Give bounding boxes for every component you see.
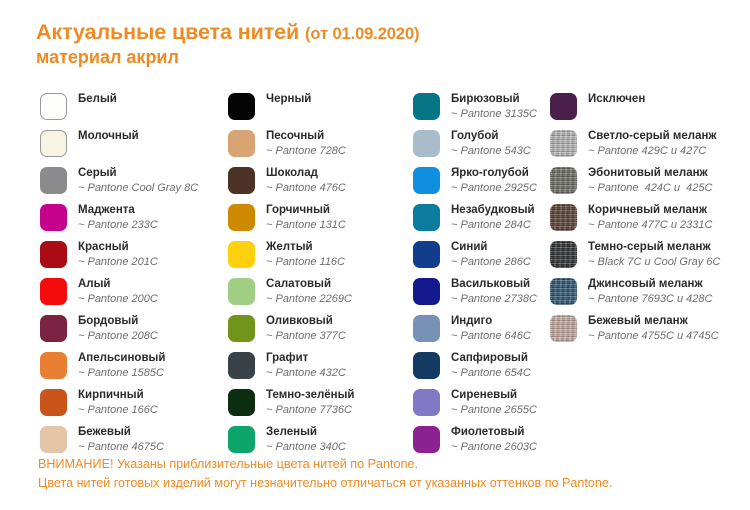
color-name-label: Джинсовый меланж xyxy=(588,277,712,291)
page-title-main: Актуальные цвета нитей xyxy=(36,20,299,44)
color-name-label: Алый xyxy=(78,277,158,291)
color-swatch-text: Бордовый~ Pantone 208C xyxy=(78,314,158,343)
color-swatch-row[interactable]: Апельсиновый~ Pantone 1585C xyxy=(40,351,226,388)
color-swatch-row[interactable]: Красный~ Pantone 201C xyxy=(40,240,226,277)
page-title-date: (от 01.09.2020) xyxy=(305,25,419,43)
color-name-label: Фиолетовый xyxy=(451,425,537,439)
color-swatch-row[interactable]: Коричневый меланж~ Pantone 477C и 2331C xyxy=(550,203,750,240)
pantone-code-label: ~ Pantone 233C xyxy=(78,218,158,232)
color-name-label: Бирюзовый xyxy=(451,92,537,106)
pantone-code-label: ~ Pantone 286C xyxy=(451,255,531,269)
palette-column-4: ИсключенСветло-серый меланж~ Pantone 429… xyxy=(550,92,750,351)
color-swatch[interactable] xyxy=(413,426,440,453)
page-subtitle: материал акрил xyxy=(36,46,726,69)
color-swatch-row[interactable]: Незабудковый~ Pantone 284C xyxy=(413,203,553,240)
color-swatch[interactable] xyxy=(40,315,67,342)
color-swatch-row[interactable]: Горчичный~ Pantone 131C xyxy=(228,203,412,240)
color-swatch-text: Белый xyxy=(78,92,117,106)
color-palette-grid: БелыйМолочныйСерый~ Pantone Cool Gray 8C… xyxy=(0,92,750,437)
color-swatch-text: Шоколад~ Pantone 476C xyxy=(266,166,346,195)
pantone-code-label: ~ Pantone 429C и 427C xyxy=(588,144,717,158)
melange-color-swatch[interactable] xyxy=(550,130,577,157)
pantone-code-label: ~ Pantone 377C xyxy=(266,329,346,343)
color-name-label: Темно-зелёный xyxy=(266,388,355,402)
color-swatch-row[interactable]: Бежевый меланж~ Pantone 4755C и 4745C xyxy=(550,314,750,351)
color-swatch-row[interactable]: Алый~ Pantone 200C xyxy=(40,277,226,314)
color-name-label: Бежевый меланж xyxy=(588,314,719,328)
color-name-label: Коричневый меланж xyxy=(588,203,712,217)
color-swatch-text: Фиолетовый~ Pantone 2603C xyxy=(451,425,537,454)
color-swatch[interactable] xyxy=(413,167,440,194)
color-swatch-row[interactable]: Бирюзовый~ Pantone 3135C xyxy=(413,92,553,129)
color-swatch-text: Светло-серый меланж~ Pantone 429C и 427C xyxy=(588,129,717,158)
color-swatch-row[interactable]: Серый~ Pantone Cool Gray 8C xyxy=(40,166,226,203)
color-swatch-row[interactable]: Ярко-голубой~ Pantone 2925C xyxy=(413,166,553,203)
pantone-code-label: ~ Pantone 4675C xyxy=(78,440,164,454)
melange-color-swatch[interactable] xyxy=(550,167,577,194)
color-swatch[interactable] xyxy=(550,93,577,120)
pantone-code-label: ~ Pantone 728C xyxy=(266,144,346,158)
color-swatch-text: Зеленый~ Pantone 340C xyxy=(266,425,346,454)
color-swatch[interactable] xyxy=(413,278,440,305)
color-swatch[interactable] xyxy=(228,389,255,416)
color-swatch-text: Черный xyxy=(266,92,311,106)
pantone-code-label: ~ Pantone 476C xyxy=(266,181,346,195)
color-name-label: Исключен xyxy=(588,92,645,106)
pantone-code-label: ~ Pantone Cool Gray 8C xyxy=(78,181,198,195)
pantone-code-label: ~ Pantone 4755C и 4745C xyxy=(588,329,719,343)
color-swatch[interactable] xyxy=(40,167,67,194)
color-name-label: Эбонитовый меланж xyxy=(588,166,712,180)
color-swatch-text: Песочный~ Pantone 728C xyxy=(266,129,346,158)
pantone-code-label: ~ Pantone 131C xyxy=(266,218,346,232)
pantone-code-label: ~ Pantone 1585C xyxy=(78,366,165,380)
color-swatch-text: Коричневый меланж~ Pantone 477C и 2331C xyxy=(588,203,712,232)
color-name-label: Красный xyxy=(78,240,158,254)
color-swatch-row[interactable]: Темно-зелёный~ Pantone 7736C xyxy=(228,388,412,425)
color-swatch-text: Голубой~ Pantone 543C xyxy=(451,129,531,158)
pantone-code-label: ~ Black 7C и Cool Gray 6C xyxy=(588,255,720,269)
color-swatch-row[interactable]: Шоколад~ Pantone 476C xyxy=(228,166,412,203)
color-swatch-row[interactable]: Эбонитовый меланж~ Pantone 424C и 425C xyxy=(550,166,750,203)
color-swatch-text: Алый~ Pantone 200C xyxy=(78,277,158,306)
color-name-label: Голубой xyxy=(451,129,531,143)
color-swatch-text: Желтый~ Pantone 116C xyxy=(266,240,345,269)
color-swatch-row[interactable]: Кирпичный~ Pantone 166C xyxy=(40,388,226,425)
melange-color-swatch[interactable] xyxy=(550,204,577,231)
color-name-label: Маджента xyxy=(78,203,158,217)
color-swatch-row[interactable]: Салатовый~ Pantone 2269C xyxy=(228,277,412,314)
color-swatch[interactable] xyxy=(413,241,440,268)
color-swatch-text: Горчичный~ Pantone 131C xyxy=(266,203,346,232)
color-swatch[interactable] xyxy=(40,241,67,268)
pantone-code-label: ~ Pantone 432C xyxy=(266,366,346,380)
color-name-label: Салатовый xyxy=(266,277,352,291)
color-swatch-text: Бежевый меланж~ Pantone 4755C и 4745C xyxy=(588,314,719,343)
color-swatch[interactable] xyxy=(413,204,440,231)
color-swatch-row[interactable]: Молочный xyxy=(40,129,226,166)
pantone-code-label: ~ Pantone 201C xyxy=(78,255,158,269)
color-swatch[interactable] xyxy=(40,278,67,305)
color-swatch-text: Маджента~ Pantone 233C xyxy=(78,203,158,232)
color-name-label: Песочный xyxy=(266,129,346,143)
pantone-code-label: ~ Pantone 646C xyxy=(451,329,531,343)
color-name-label: Сиреневый xyxy=(451,388,537,402)
color-swatch-row[interactable]: Джинсовый меланж~ Pantone 7693C и 428C xyxy=(550,277,750,314)
color-name-label: Бордовый xyxy=(78,314,158,328)
color-name-label: Горчичный xyxy=(266,203,346,217)
melange-color-swatch[interactable] xyxy=(550,315,577,342)
color-swatch[interactable] xyxy=(40,426,67,453)
pantone-code-label: ~ Pantone 2603C xyxy=(451,440,537,454)
color-swatch-row[interactable]: Желтый~ Pantone 116C xyxy=(228,240,412,277)
melange-color-swatch[interactable] xyxy=(550,241,577,268)
color-swatch-text: Сиреневый~ Pantone 2655C xyxy=(451,388,537,417)
color-swatch-row[interactable]: Синий~ Pantone 286C xyxy=(413,240,553,277)
color-name-label: Индиго xyxy=(451,314,531,328)
color-swatch-row[interactable]: Голубой~ Pantone 543C xyxy=(413,129,553,166)
pantone-code-label: ~ Pantone 208C xyxy=(78,329,158,343)
color-name-label: Шоколад xyxy=(266,166,346,180)
color-swatch-row[interactable]: Светло-серый меланж~ Pantone 429C и 427C xyxy=(550,129,750,166)
color-swatch-row[interactable]: Черный xyxy=(228,92,412,129)
melange-color-swatch[interactable] xyxy=(550,278,577,305)
pantone-code-label: ~ Pantone 2655C xyxy=(451,403,537,417)
pantone-code-label: ~ Pantone 7736C xyxy=(266,403,355,417)
color-name-label: Белый xyxy=(78,92,117,106)
color-swatch[interactable] xyxy=(228,426,255,453)
pantone-code-label: ~ Pantone 166C xyxy=(78,403,158,417)
color-swatch-text: Бирюзовый~ Pantone 3135C xyxy=(451,92,537,121)
color-swatch[interactable] xyxy=(413,130,440,157)
color-swatch[interactable] xyxy=(413,352,440,379)
color-swatch-text: Незабудковый~ Pantone 284C xyxy=(451,203,535,232)
color-swatch-row[interactable]: Песочный~ Pantone 728C xyxy=(228,129,412,166)
palette-column-2: ЧерныйПесочный~ Pantone 728CШоколад~ Pan… xyxy=(228,92,412,462)
color-name-label: Бежевый xyxy=(78,425,164,439)
color-name-label: Темно-серый меланж xyxy=(588,240,720,254)
color-swatch[interactable] xyxy=(228,241,255,268)
color-swatch-text: Сапфировый~ Pantone 654C xyxy=(451,351,531,380)
color-swatch[interactable] xyxy=(40,352,67,379)
color-name-label: Молочный xyxy=(78,129,139,143)
color-swatch[interactable] xyxy=(413,315,440,342)
color-name-label: Желтый xyxy=(266,240,345,254)
color-swatch[interactable] xyxy=(228,130,255,157)
pantone-code-label: ~ Pantone 284C xyxy=(451,218,535,232)
color-swatch[interactable] xyxy=(228,278,255,305)
color-name-label: Апельсиновый xyxy=(78,351,165,365)
color-swatch-text: Исключен xyxy=(588,92,645,106)
color-swatch-row[interactable]: Сапфировый~ Pantone 654C xyxy=(413,351,553,388)
color-swatch[interactable] xyxy=(413,389,440,416)
warning-line-2: Цвета нитей готовых изделий могут незнач… xyxy=(38,474,738,493)
pantone-code-label: ~ Pantone 477C и 2331C xyxy=(588,218,712,232)
color-swatch[interactable] xyxy=(228,167,255,194)
color-name-label: Светло-серый меланж xyxy=(588,129,717,143)
color-swatch-text: Индиго~ Pantone 646C xyxy=(451,314,531,343)
pantone-code-label: ~ Pantone 340C xyxy=(266,440,346,454)
color-swatch-text: Ярко-голубой~ Pantone 2925C xyxy=(451,166,537,195)
pantone-code-label: ~ Pantone 424C и 425C xyxy=(588,181,712,195)
color-name-label: Графит xyxy=(266,351,346,365)
color-swatch[interactable] xyxy=(40,204,67,231)
color-swatch-row[interactable]: Темно-серый меланж~ Black 7C и Cool Gray… xyxy=(550,240,750,277)
warning-line-1: ВНИМАНИЕ! Указаны приблизительные цвета … xyxy=(38,455,738,474)
warning-note: ВНИМАНИЕ! Указаны приблизительные цвета … xyxy=(38,455,738,493)
color-swatch[interactable] xyxy=(413,93,440,120)
color-swatch-text: Молочный xyxy=(78,129,139,143)
pantone-code-label: ~ Pantone 654C xyxy=(451,366,531,380)
color-swatch-text: Джинсовый меланж~ Pantone 7693C и 428C xyxy=(588,277,712,306)
color-swatch-text: Графит~ Pantone 432C xyxy=(266,351,346,380)
color-name-label: Оливковый xyxy=(266,314,346,328)
color-swatch-row[interactable]: Исключен xyxy=(550,92,750,129)
pantone-code-label: ~ Pantone 2925C xyxy=(451,181,537,195)
color-swatch-row[interactable]: Сиреневый~ Pantone 2655C xyxy=(413,388,553,425)
color-name-label: Кирпичный xyxy=(78,388,158,402)
pantone-code-label: ~ Pantone 7693C и 428C xyxy=(588,292,712,306)
color-swatch-text: Темно-зелёный~ Pantone 7736C xyxy=(266,388,355,417)
pantone-code-label: ~ Pantone 2738C xyxy=(451,292,537,306)
color-name-label: Черный xyxy=(266,92,311,106)
color-swatch[interactable] xyxy=(228,93,255,120)
color-swatch-text: Бежевый~ Pantone 4675C xyxy=(78,425,164,454)
color-swatch-text: Красный~ Pantone 201C xyxy=(78,240,158,269)
pantone-code-label: ~ Pantone 200C xyxy=(78,292,158,306)
color-swatch-text: Синий~ Pantone 286C xyxy=(451,240,531,269)
color-swatch-text: Темно-серый меланж~ Black 7C и Cool Gray… xyxy=(588,240,720,269)
color-name-label: Незабудковый xyxy=(451,203,535,217)
color-name-label: Зеленый xyxy=(266,425,346,439)
color-swatch-row[interactable]: Маджента~ Pantone 233C xyxy=(40,203,226,240)
color-swatch[interactable] xyxy=(40,389,67,416)
color-name-label: Васильковый xyxy=(451,277,537,291)
palette-column-1: БелыйМолочныйСерый~ Pantone Cool Gray 8C… xyxy=(40,92,226,462)
page-title: Актуальные цвета нитей (от 01.09.2020) xyxy=(36,20,726,45)
color-name-label: Ярко-голубой xyxy=(451,166,537,180)
pantone-code-label: ~ Pantone 543C xyxy=(451,144,531,158)
color-swatch-text: Серый~ Pantone Cool Gray 8C xyxy=(78,166,198,195)
color-swatch-row[interactable]: Графит~ Pantone 432C xyxy=(228,351,412,388)
color-swatch-row[interactable]: Бордовый~ Pantone 208C xyxy=(40,314,226,351)
color-swatch-text: Кирпичный~ Pantone 166C xyxy=(78,388,158,417)
color-swatch[interactable] xyxy=(228,204,255,231)
pantone-code-label: ~ Pantone 2269C xyxy=(266,292,352,306)
color-swatch-text: Эбонитовый меланж~ Pantone 424C и 425C xyxy=(588,166,712,195)
color-swatch[interactable] xyxy=(40,93,67,120)
color-swatch-row[interactable]: Белый xyxy=(40,92,226,129)
color-name-label: Синий xyxy=(451,240,531,254)
color-swatch-row[interactable]: Индиго~ Pantone 646C xyxy=(413,314,553,351)
pantone-code-label: ~ Pantone 3135C xyxy=(451,107,537,121)
color-swatch-text: Апельсиновый~ Pantone 1585C xyxy=(78,351,165,380)
color-swatch-text: Салатовый~ Pantone 2269C xyxy=(266,277,352,306)
color-swatch[interactable] xyxy=(40,130,67,157)
palette-column-3: Бирюзовый~ Pantone 3135CГолубой~ Pantone… xyxy=(413,92,553,462)
color-swatch[interactable] xyxy=(228,352,255,379)
color-swatch-row[interactable]: Оливковый~ Pantone 377C xyxy=(228,314,412,351)
color-swatch-text: Оливковый~ Pantone 377C xyxy=(266,314,346,343)
page-header: Актуальные цвета нитей (от 01.09.2020) м… xyxy=(36,20,726,69)
color-swatch[interactable] xyxy=(228,315,255,342)
color-swatch-text: Васильковый~ Pantone 2738C xyxy=(451,277,537,306)
pantone-code-label: ~ Pantone 116C xyxy=(266,255,345,269)
color-name-label: Сапфировый xyxy=(451,351,531,365)
color-swatch-row[interactable]: Васильковый~ Pantone 2738C xyxy=(413,277,553,314)
color-name-label: Серый xyxy=(78,166,198,180)
